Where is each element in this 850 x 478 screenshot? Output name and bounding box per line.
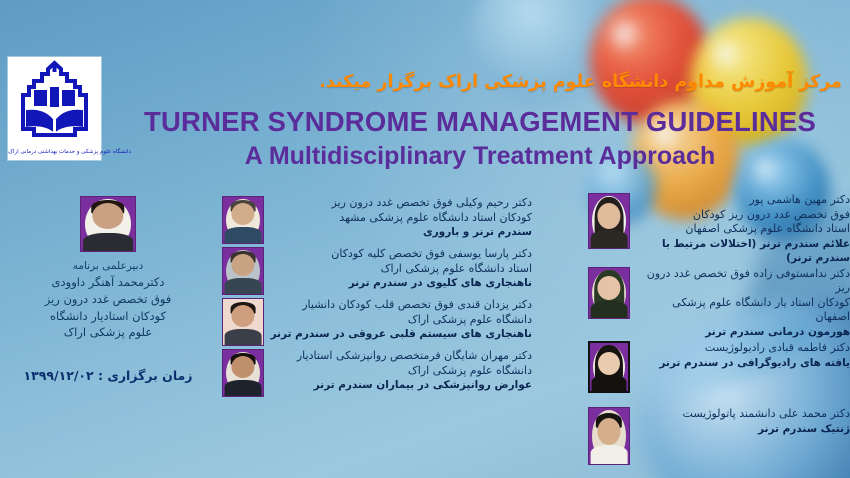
speaker-affiliation: دانشگاه علوم پزشکی اراک: [270, 313, 532, 328]
speaker-photo: [588, 407, 630, 465]
speaker-photo: [588, 267, 630, 319]
organizer-banner: مرکز آموزش مداوم دانشگاه علوم پزشکی اراک…: [319, 72, 842, 92]
speaker-name: دکتر مهین هاشمی پور: [636, 193, 850, 208]
speakers-column-right: دکتر مهین هاشمی پور فوق تخصص غدد درون ری…: [588, 193, 850, 467]
presentation-slide: دانشگاه علوم پزشکی و خدمات بهداشتی درمان…: [0, 0, 850, 478]
scientific-secretary-block: دبیرعلمی برنامه دکترمحمد آهنگر داوودی فو…: [8, 196, 208, 341]
speaker-photo: [222, 298, 264, 346]
speaker-affiliation-secondary: استاد دانشگاه علوم پزشکی اصفهان: [636, 222, 850, 237]
page-title: TURNER SYNDROME MANAGEMENT GUIDELINES A …: [120, 106, 840, 171]
speaker-topic: علائم سندرم ترنر (اختلالات مرتبط با سندر…: [636, 237, 850, 265]
speaker-name: دکتر ندامستوفی زاده فوق تخصص غدد درون ری…: [636, 267, 850, 296]
event-date: زمان برگزاری : ۱۳۹۹/۱۲/۰۲: [8, 368, 208, 383]
speaker-name: دکتر مهران شایگان فرمتخصص روانپزشکی استا…: [270, 349, 532, 364]
speaker-name: دکتر یزدان قندی فوق تخصص قلب کودکان دانش…: [270, 298, 532, 313]
mosque-book-emblem-icon: [8, 57, 101, 160]
speaker-photo: [222, 349, 264, 397]
secretary-role: دبیرعلمی برنامه: [8, 259, 208, 274]
speaker-topic: ناهنجاری های کلیوی در سندرم ترنر: [270, 276, 532, 290]
speaker-entry: دکتر مهین هاشمی پور فوق تخصص غدد درون ری…: [588, 193, 850, 265]
speaker-name: دکتر محمد علی دانشمند پاتولوژیست: [636, 407, 850, 422]
speaker-entry: دکتر محمد علی دانشمند پاتولوژیست ژنتیک س…: [588, 407, 850, 465]
speaker-photo: [222, 196, 264, 244]
speaker-affiliation: کودکان استاد یار دانشگاه علوم پزشکی اصفه…: [636, 296, 850, 325]
speaker-affiliation: استاد دانشگاه علوم پزشکی اراک: [270, 262, 532, 277]
speaker-name: دکتر پارسا یوسفی فوق تخصص کلیه کودکان: [270, 247, 532, 262]
secretary-name: دکترمحمد آهنگر داوودی: [8, 274, 208, 291]
speaker-entry: دکتر پارسا یوسفی فوق تخصص کلیه کودکان اس…: [222, 247, 532, 295]
speakers-column-middle: دکتر رحیم وکیلی فوق تخصص غدد درون ریز کو…: [222, 196, 532, 400]
secretary-details: دبیرعلمی برنامه دکترمحمد آهنگر داوودی فو…: [8, 259, 208, 341]
speaker-entry: دکتر رحیم وکیلی فوق تخصص غدد درون ریز کو…: [222, 196, 532, 244]
speaker-photo: [588, 341, 630, 393]
speaker-name: دکتر رحیم وکیلی فوق تخصص غدد درون ریز: [270, 196, 532, 211]
secretary-line-4: علوم پزشکی اراک: [8, 324, 208, 341]
logo-caption: دانشگاه علوم پزشکی و خدمات بهداشتی درمان…: [8, 149, 101, 155]
speaker-name: دکتر فاطمه قبادی رادیولوژیست: [636, 341, 850, 356]
speaker-topic: یافته های رادیوگرافی در سندرم ترنر: [636, 356, 850, 370]
title-main: TURNER SYNDROME MANAGEMENT GUIDELINES: [120, 106, 840, 138]
secretary-photo: [80, 196, 136, 252]
speaker-entry: دکتر ندامستوفی زاده فوق تخصص غدد درون ری…: [588, 267, 850, 339]
speaker-topic: سندرم ترنر و باروری: [270, 225, 532, 239]
speaker-topic: ژنتیک سندرم ترنر: [636, 422, 850, 436]
speaker-topic: هورمون درمانی سندرم ترنر: [636, 325, 850, 339]
speaker-photo: [588, 193, 630, 249]
speaker-affiliation: دانشگاه علوم پزشکی اراک: [270, 364, 532, 379]
speaker-photo: [222, 247, 264, 295]
speaker-entry: دکتر فاطمه قبادی رادیولوژیست یافته های ر…: [588, 341, 850, 393]
secretary-line-3: کودکان استادیار دانشگاه: [8, 308, 208, 325]
speaker-topic: ناهنجاری های سیستم قلبی عروقی در سندرم ت…: [270, 327, 532, 341]
speaker-entry: دکتر مهران شایگان فرمتخصص روانپزشکی استا…: [222, 349, 532, 397]
speaker-affiliation: کودکان استاد دانشگاه علوم پزشکی مشهد: [270, 211, 532, 226]
title-subtitle: A Multidisciplinary Treatment Approach: [120, 142, 840, 171]
university-logo: دانشگاه علوم پزشکی و خدمات بهداشتی درمان…: [8, 57, 101, 160]
speaker-topic: عوارض روانپزشکی در بیماران سندرم ترنر: [270, 378, 532, 392]
speaker-entry: دکتر یزدان قندی فوق تخصص قلب کودکان دانش…: [222, 298, 532, 346]
secretary-line-2: فوق تخصص غدد درون ریز: [8, 291, 208, 308]
speaker-affiliation: فوق تخصص غدد درون ریز کودکان: [636, 208, 850, 223]
